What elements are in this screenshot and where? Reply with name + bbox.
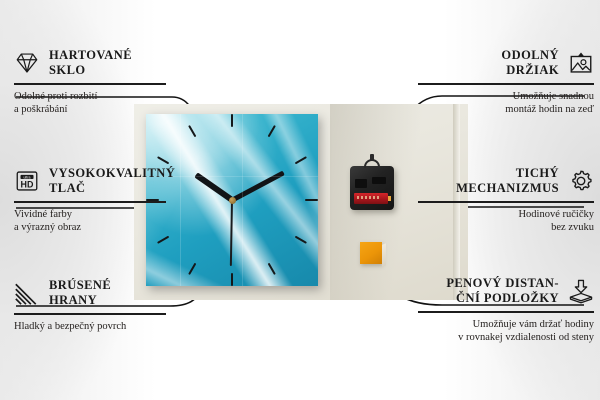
feature-header: TICHÝ MECHANIZMUS xyxy=(416,166,594,196)
foam-spacer-side xyxy=(382,243,386,267)
desc-line-2: bez zvuku xyxy=(416,221,594,234)
feature-title: PENOVÝ DISTAN- ČNÍ PODLOŽKY xyxy=(446,276,559,306)
feature-durable-holder: ODOLNÝ DRŽIAK Umožňuje snadnou montáž ho… xyxy=(416,48,594,116)
feature-header: ultra HD VYSOKOKVALITNÝ TLAČ xyxy=(14,166,186,196)
mechanism-slot-right xyxy=(372,177,386,184)
feature-header: ODOLNÝ DRŽIAK xyxy=(416,48,594,78)
ultra-hd-icon: ultra HD xyxy=(14,168,40,194)
icon-label-hd: HD xyxy=(21,180,34,190)
feature-header: PENOVÝ DISTAN- ČNÍ PODLOŽKY xyxy=(416,276,594,306)
desc-line-2: a výrazný obraz xyxy=(14,221,186,234)
mechanism-slot-left xyxy=(355,179,367,188)
desc-line-2: a poškrábání xyxy=(14,103,186,116)
feature-divider xyxy=(14,313,166,315)
second-hand xyxy=(230,200,233,266)
feature-title: BRÚSENÉ HRANY xyxy=(49,278,111,308)
hour-marker xyxy=(231,273,233,286)
feature-divider xyxy=(14,83,166,85)
feature-title: VYSOKOKVALITNÝ TLAČ xyxy=(49,166,175,196)
feature-ground-edges: BRÚSENÉ HRANY Hladký a bezpečný povrch xyxy=(14,278,186,333)
diamond-icon xyxy=(14,50,40,76)
feature-header: BRÚSENÉ HRANY xyxy=(14,278,186,308)
feature-divider xyxy=(418,83,594,85)
hanging-picture-icon xyxy=(568,50,594,76)
hour-marker xyxy=(188,263,196,275)
feature-title: HARTOVANÉ SKLO xyxy=(49,48,132,78)
feature-description: Hodinové ručičky bez zvuku xyxy=(416,208,594,234)
feature-title: ODOLNÝ DRŽIAK xyxy=(501,48,559,78)
hour-marker xyxy=(295,156,307,164)
diagonal-lines-icon xyxy=(14,280,40,306)
feature-description: Umožňuje snadnou montáž hodin na zeď xyxy=(416,90,594,116)
hour-marker xyxy=(157,236,169,244)
mechanism-hook xyxy=(364,159,380,168)
clock-center-cap xyxy=(229,197,236,204)
desc-line-2: montáž hodin na zeď xyxy=(416,103,594,116)
feature-description: Hladký a bezpečný povrch xyxy=(14,320,186,333)
feature-divider xyxy=(14,201,166,203)
down-arrow-stack-icon xyxy=(568,278,594,304)
minute-hand xyxy=(231,171,285,203)
feature-foam-spacers: PENOVÝ DISTAN- ČNÍ PODLOŽKY Umožňuje vám… xyxy=(416,276,594,344)
desc-line-1: Vividné farby xyxy=(14,208,186,221)
feature-divider xyxy=(418,311,594,313)
desc-line-2: v rovnakej vzdialenosti od steny xyxy=(416,331,594,344)
battery xyxy=(354,193,388,204)
desc-line-1: Umožňuje snadnou xyxy=(416,90,594,103)
feature-header: HARTOVANÉ SKLO xyxy=(14,48,186,78)
hour-marker xyxy=(305,199,318,201)
hour-marker xyxy=(268,125,276,137)
feature-divider xyxy=(418,201,594,203)
hour-marker xyxy=(295,236,307,244)
desc-line-1: Hodinové ručičky xyxy=(416,208,594,221)
battery-label xyxy=(357,196,379,199)
desc-line-1: Hladký a bezpečný povrch xyxy=(14,320,186,333)
feature-silent-mechanism: TICHÝ MECHANIZMUS Hodinové ručičky bez z… xyxy=(416,166,594,234)
desc-line-1: Odolné proti rozbití xyxy=(14,90,186,103)
feature-description: Vividné farby a výrazný obraz xyxy=(14,208,186,234)
feature-title: TICHÝ MECHANIZMUS xyxy=(456,166,559,196)
gear-icon xyxy=(568,168,594,194)
feature-high-quality-print: ultra HD VYSOKOKVALITNÝ TLAČ Vividné far… xyxy=(14,166,186,234)
feature-tempered-glass: HARTOVANÉ SKLO Odolné proti rozbití a po… xyxy=(14,48,186,116)
hour-marker xyxy=(157,156,169,164)
hour-marker xyxy=(231,114,233,127)
clock-mechanism xyxy=(350,166,394,210)
hour-marker xyxy=(188,125,196,137)
desc-line-1: Umožňuje vám držať hodiny xyxy=(416,318,594,331)
hour-marker xyxy=(268,263,276,275)
foam-spacer-pad xyxy=(360,242,382,264)
feature-description: Odolné proti rozbití a poškrábání xyxy=(14,90,186,116)
hour-hand xyxy=(194,172,233,202)
feature-description: Umožňuje vám držať hodiny v rovnakej vzd… xyxy=(416,318,594,344)
infographic-canvas: HARTOVANÉ SKLO Odolné proti rozbití a po… xyxy=(0,0,600,400)
